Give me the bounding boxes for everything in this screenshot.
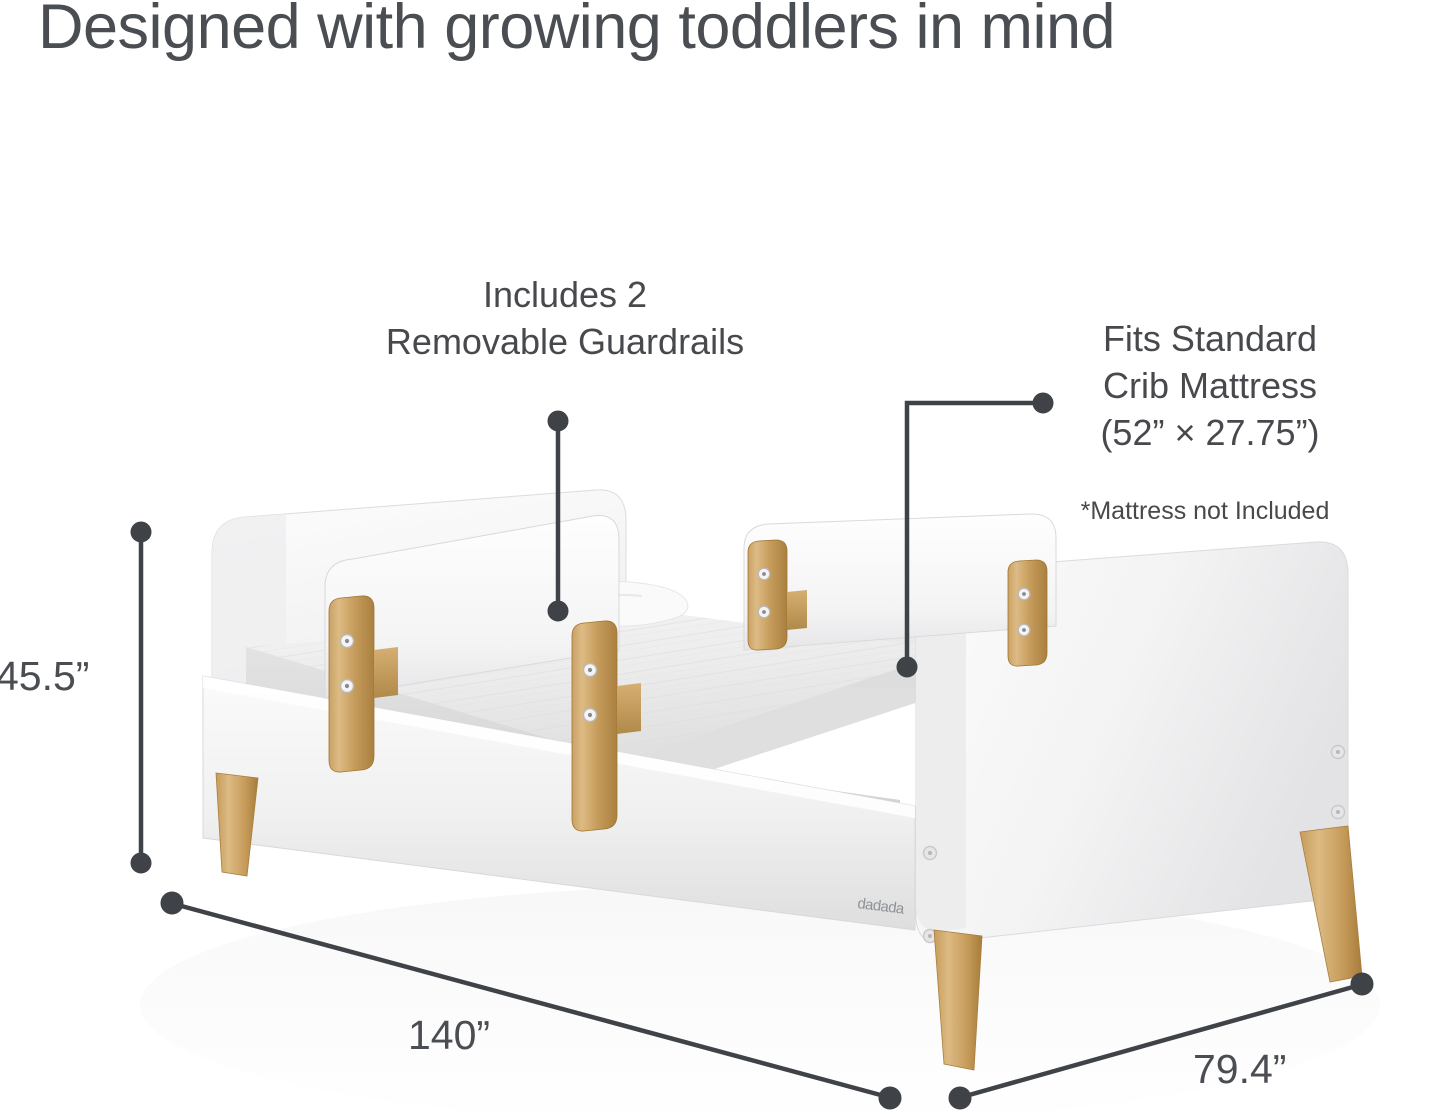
dimension-dot-icon xyxy=(131,853,151,873)
dimension-dot-icon xyxy=(161,892,183,914)
callout-guardrails: Includes 2 Removable Guardrails xyxy=(330,272,800,366)
leg-front-left xyxy=(216,773,258,876)
callout-guardrails-line2: Removable Guardrails xyxy=(330,319,800,366)
dimension-label-length: 140” xyxy=(408,1012,490,1059)
leader-dot-icon xyxy=(548,411,568,431)
leader-dot-icon xyxy=(897,657,917,677)
dimension-label-width: 79.4” xyxy=(1193,1046,1286,1093)
callout-mattress-line1: Fits Standard xyxy=(1030,316,1390,363)
guardrail-far-post-right xyxy=(1008,560,1047,666)
callout-mattress: Fits Standard Crib Mattress (52” × 27.75… xyxy=(1030,316,1390,456)
dimension-dot-icon xyxy=(1351,973,1373,995)
dimension-dot-icon xyxy=(949,1087,971,1109)
toddler-bed-illustration: dadada xyxy=(0,0,1445,1114)
dimension-dot-icon xyxy=(131,522,151,542)
dimension-dot-icon xyxy=(879,1087,901,1109)
callout-guardrails-line1: Includes 2 xyxy=(330,272,800,319)
callout-mattress-line3: (52” × 27.75”) xyxy=(1030,410,1390,457)
callout-mattress-line2: Crib Mattress xyxy=(1030,363,1390,410)
dimension-label-height: 45.5” xyxy=(0,653,89,700)
product-infographic: Designed with growing toddlers in mind xyxy=(0,0,1445,1114)
mattress-disclaimer: *Mattress not Included xyxy=(1020,497,1390,526)
leader-dot-icon xyxy=(548,601,568,621)
